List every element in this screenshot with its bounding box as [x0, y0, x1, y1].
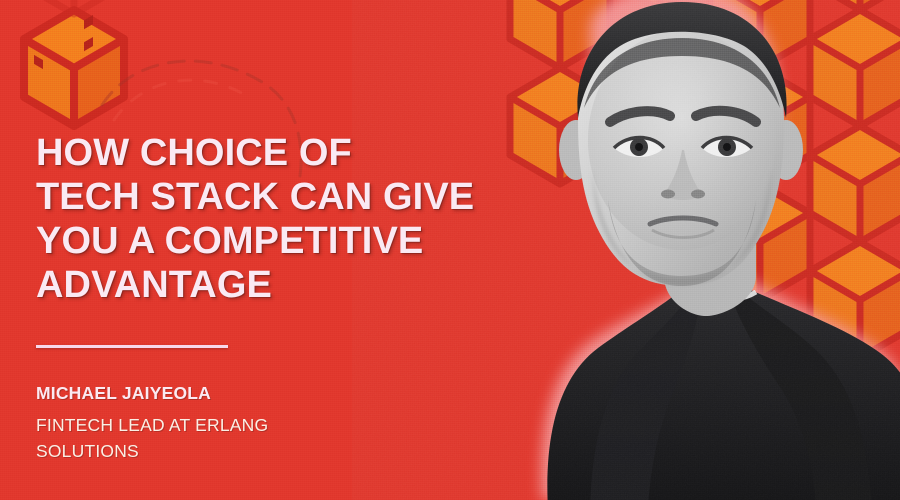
headline-line-3: YOU A COMPETITIVE	[36, 219, 506, 263]
headline-line-2: TECH STACK CAN GIVE	[36, 175, 506, 219]
presenter-name: MICHAEL JAIYEOLA	[36, 382, 211, 404]
presenter-role-line-1: FINTECH LEAD AT ERLANG	[36, 412, 366, 438]
divider-rule	[36, 345, 228, 348]
page-title: HOW CHOICE OF TECH STACK CAN GIVE YOU A …	[36, 131, 506, 307]
webinar-title-card: HOW CHOICE OF TECH STACK CAN GIVE YOU A …	[0, 0, 900, 500]
presenter-role-line-2: SOLUTIONS	[36, 438, 366, 464]
headline-line-1: HOW CHOICE OF	[36, 131, 506, 175]
headline-line-4: ADVANTAGE	[36, 263, 506, 307]
presenter-role: FINTECH LEAD AT ERLANG SOLUTIONS	[36, 412, 366, 464]
text-column: HOW CHOICE OF TECH STACK CAN GIVE YOU A …	[36, 0, 506, 500]
